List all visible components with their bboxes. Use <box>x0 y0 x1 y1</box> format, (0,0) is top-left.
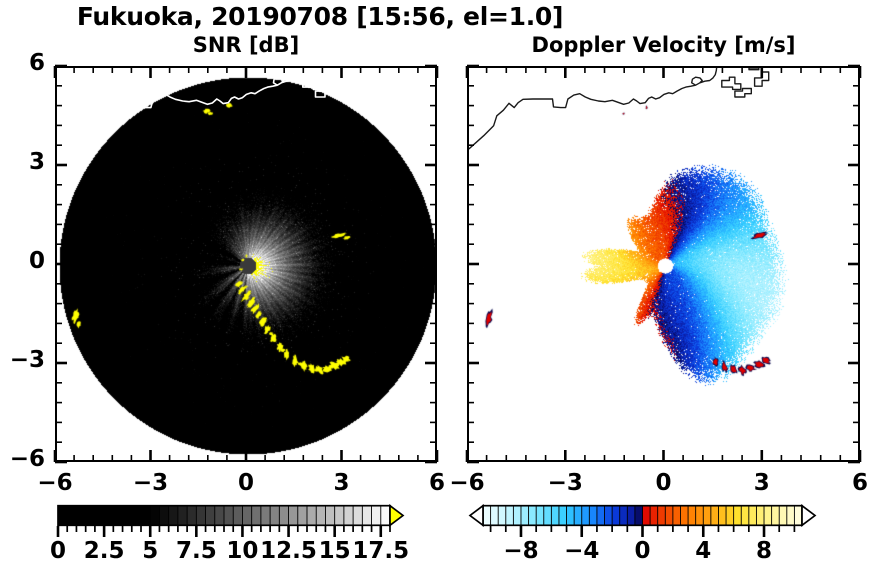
snr-coastline-overlay <box>57 68 437 462</box>
xtick-label: 0 <box>624 470 704 496</box>
ytick-label: 3 <box>0 149 45 175</box>
figure-canvas: Fukuoka, 20190708 [15:56, el=1.0] SNR [d… <box>0 0 870 570</box>
xtick-label: 3 <box>302 470 382 496</box>
ytick-label: 6 <box>0 50 45 76</box>
ytick-label: −6 <box>0 446 45 472</box>
doppler-plot-area[interactable] <box>467 66 860 462</box>
snr-plot-area[interactable] <box>55 66 437 462</box>
snr-panel-title: SNR [dB] <box>55 33 437 57</box>
doppler-colorbar[interactable] <box>470 505 815 526</box>
figure-title: Fukuoka, 20190708 [15:56, el=1.0] <box>0 2 640 31</box>
ytick-label: 0 <box>0 248 45 274</box>
xtick-label: −3 <box>525 470 605 496</box>
xtick-label: −6 <box>15 470 95 496</box>
xtick-label: 6 <box>820 470 870 496</box>
ytick-label: −3 <box>0 347 45 373</box>
xtick-label: −3 <box>111 470 191 496</box>
doppler-panel-title: Doppler Velocity [m/s] <box>467 33 860 57</box>
snr-colorbar[interactable] <box>58 505 403 526</box>
xtick-label: −6 <box>427 470 507 496</box>
xtick-label: 3 <box>722 470 802 496</box>
colorbar-tick-label: 17.5 <box>341 538 421 564</box>
doppler-coastline-overlay <box>469 68 860 462</box>
colorbar-tick-label: 8 <box>724 538 804 564</box>
xtick-label: 0 <box>206 470 286 496</box>
